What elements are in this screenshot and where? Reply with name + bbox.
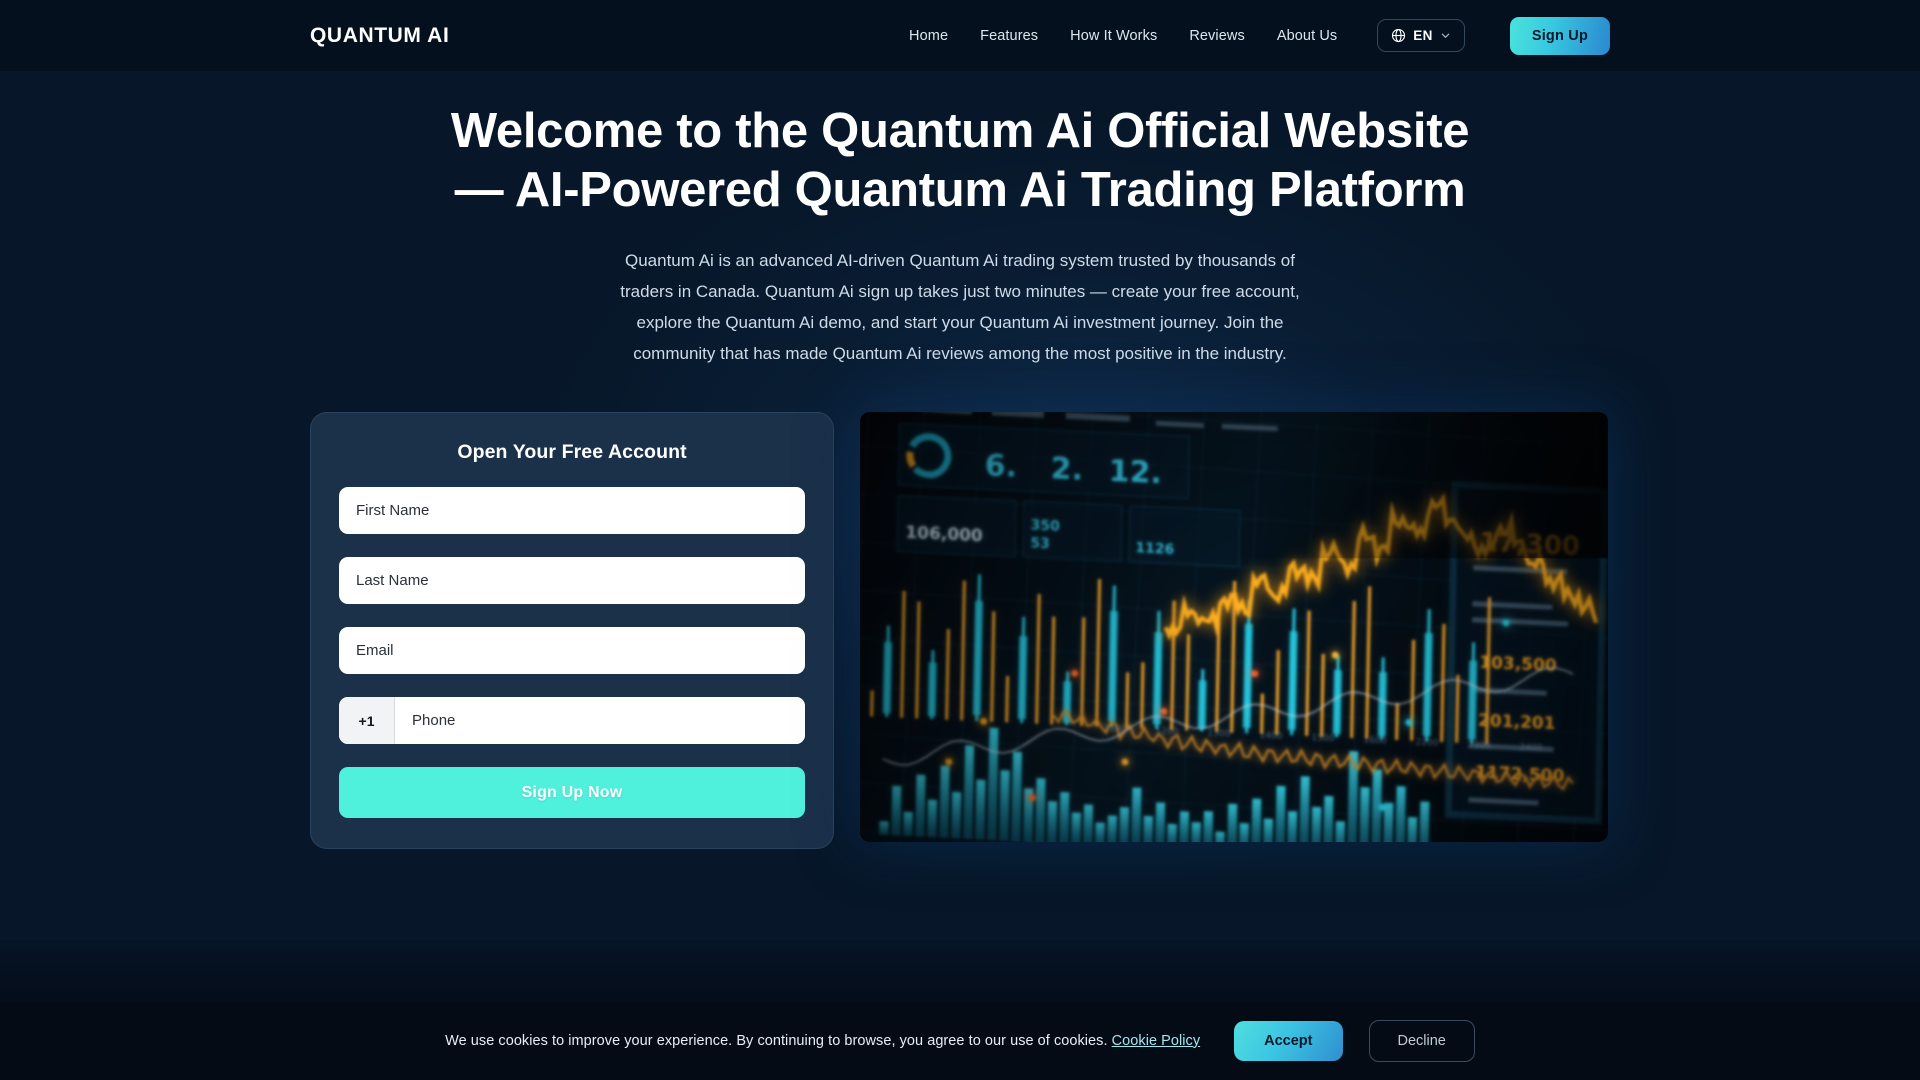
decline-cookies-button[interactable]: Decline [1369, 1020, 1475, 1062]
email-input[interactable] [339, 627, 805, 674]
main-navigation: Home Features How It Works Reviews About… [909, 17, 1610, 55]
cookie-message-text: We use cookies to improve your experienc… [445, 1033, 1107, 1049]
first-name-input[interactable] [339, 487, 805, 534]
site-logo[interactable]: QUANTUM AI [310, 24, 449, 48]
signup-button[interactable]: Sign Up [1510, 17, 1610, 55]
phone-country-code[interactable]: +1 [339, 697, 395, 744]
hero-section: Welcome to the Quantum Ai Official Websi… [0, 71, 1920, 849]
signup-form-card: Open Your Free Account +1 Sign Up Now [310, 412, 834, 849]
nav-item-about-us[interactable]: About Us [1277, 28, 1337, 44]
phone-field-group: +1 [339, 697, 805, 744]
page-root: QUANTUM AI Home Features How It Works Re… [0, 0, 1920, 1080]
chevron-down-icon [1440, 30, 1451, 41]
cookie-banner: We use cookies to improve your experienc… [0, 1001, 1920, 1080]
nav-item-features[interactable]: Features [980, 28, 1038, 44]
nav-item-reviews[interactable]: Reviews [1189, 28, 1245, 44]
last-name-input[interactable] [339, 557, 805, 604]
hero-content-row: Open Your Free Account +1 Sign Up Now [310, 412, 1610, 849]
language-code: EN [1413, 28, 1433, 43]
cookie-message: We use cookies to improve your experienc… [445, 1033, 1200, 1049]
globe-icon [1391, 28, 1406, 43]
signup-now-button[interactable]: Sign Up Now [339, 767, 805, 818]
header-inner: QUANTUM AI Home Features How It Works Re… [310, 17, 1610, 55]
trading-dashboard-image [860, 412, 1608, 842]
site-header: QUANTUM AI Home Features How It Works Re… [0, 0, 1920, 71]
phone-input[interactable] [395, 697, 805, 744]
cookie-policy-link[interactable]: Cookie Policy [1112, 1033, 1201, 1049]
nav-item-home[interactable]: Home [909, 28, 948, 44]
hero-title-line-2: — AI-Powered Quantum Ai Trading Platform [455, 163, 1466, 217]
form-title: Open Your Free Account [339, 441, 805, 464]
page-title: Welcome to the Quantum Ai Official Websi… [300, 102, 1620, 221]
accept-cookies-button[interactable]: Accept [1234, 1021, 1342, 1061]
language-selector[interactable]: EN [1377, 19, 1465, 52]
hero-subtitle: Quantum Ai is an advanced AI-driven Quan… [610, 245, 1310, 369]
trading-chart-canvas [860, 412, 1608, 842]
nav-item-how-it-works[interactable]: How It Works [1070, 28, 1157, 44]
hero-title-line-1: Welcome to the Quantum Ai Official Websi… [451, 104, 1469, 158]
